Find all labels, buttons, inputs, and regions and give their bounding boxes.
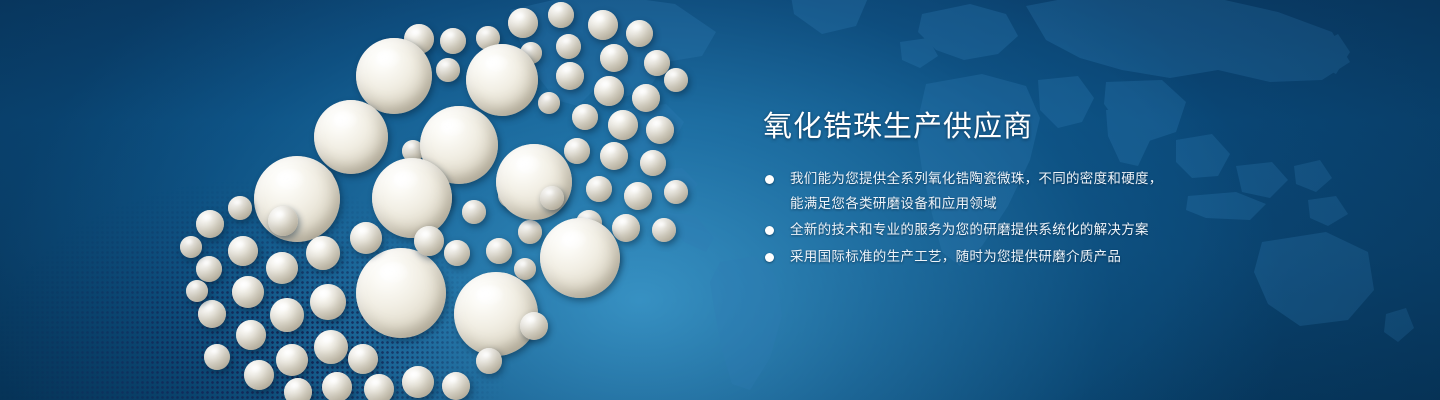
list-item: 我们能为您提供全系列氧化锆陶瓷微珠，不同的密度和硬度， 能满足您各类研磨设备和应… [763,167,1233,216]
list-item: 全新的技术和专业的服务为您的研磨提供系统化的解决方案 [763,218,1233,243]
list-item-line: 我们能为您提供全系列氧化锆陶瓷微珠，不同的密度和硬度， [790,167,1233,192]
page-title: 氧化锆珠生产供应商 [763,106,1233,146]
hero-banner: 氧化锆珠生产供应商 我们能为您提供全系列氧化锆陶瓷微珠，不同的密度和硬度， 能满… [0,0,1440,400]
bullet-dot-icon [765,226,774,235]
bullet-dot-icon [765,253,774,262]
bullet-dot-icon [765,175,774,184]
list-item-line: 采用国际标准的生产工艺，随时为您提供研磨介质产品 [790,245,1233,270]
list-item-line: 全新的技术和专业的服务为您的研磨提供系统化的解决方案 [790,218,1233,243]
feature-list: 我们能为您提供全系列氧化锆陶瓷微珠，不同的密度和硬度， 能满足您各类研磨设备和应… [763,167,1233,269]
list-item-line: 能满足您各类研磨设备和应用领域 [790,192,1233,217]
list-item: 采用国际标准的生产工艺，随时为您提供研磨介质产品 [763,245,1233,270]
banner-copy: 氧化锆珠生产供应商 我们能为您提供全系列氧化锆陶瓷微珠，不同的密度和硬度， 能满… [763,106,1233,271]
